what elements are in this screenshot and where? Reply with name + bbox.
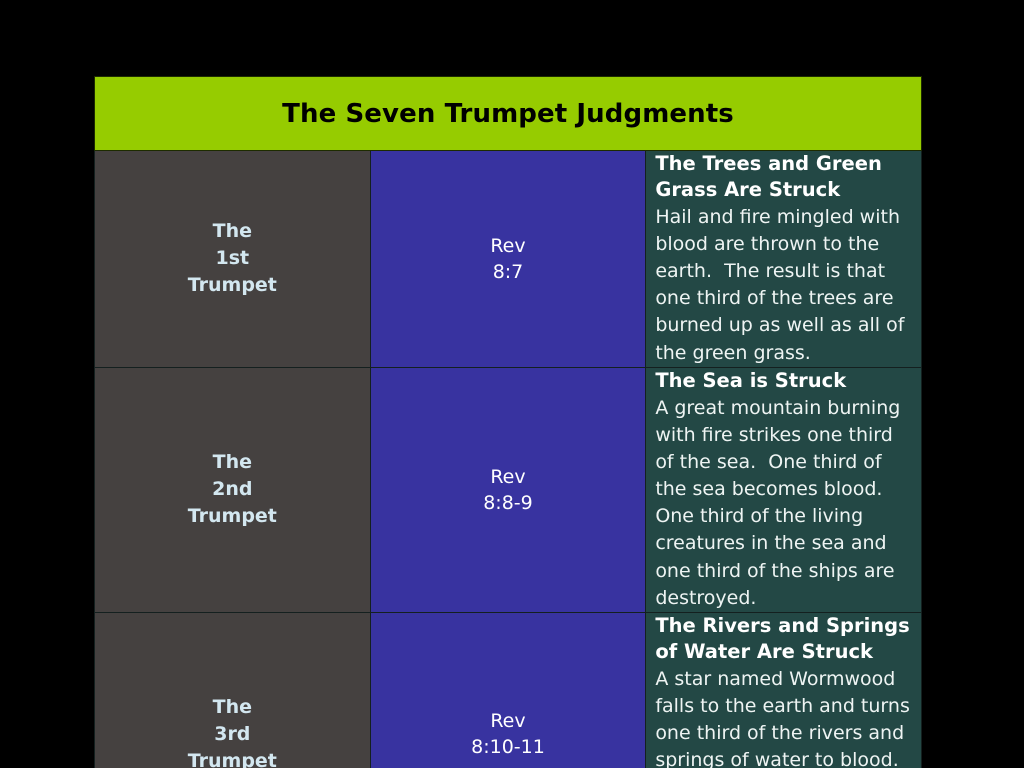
scripture-reference-2: Rev 8:8-9 <box>370 367 646 612</box>
description-heading-2: The Sea is Struck <box>655 368 911 394</box>
description-cell-2: The Sea is Struck A great mountain burni… <box>646 367 922 612</box>
description-body-3: A star named Wormwood falls to the earth… <box>655 666 911 768</box>
page-title: The Seven Trumpet Judgments <box>95 77 922 151</box>
description-body-1: Hail and fire mingled with blood are thr… <box>655 204 911 367</box>
description-cell-3: The Rivers and Springs of Water Are Stru… <box>646 612 922 768</box>
trumpet-label-3: The 3rd Trumpet <box>95 612 371 768</box>
description-cell-1: The Trees and Green Grass Are Struck Hai… <box>646 151 922 368</box>
slide-canvas: The Seven Trumpet Judgments The 1st Trum… <box>0 0 1024 768</box>
table-row: The 3rd Trumpet Rev 8:10-11 The Rivers a… <box>95 612 922 768</box>
table-row: The 1st Trumpet Rev 8:7 The Trees and Gr… <box>95 151 922 368</box>
scripture-reference-1: Rev 8:7 <box>370 151 646 368</box>
seven-trumpet-judgments-table: The Seven Trumpet Judgments The 1st Trum… <box>94 76 922 768</box>
trumpet-label-1: The 1st Trumpet <box>95 151 371 368</box>
table-title-row: The Seven Trumpet Judgments <box>95 77 922 151</box>
description-heading-1: The Trees and Green Grass Are Struck <box>655 151 911 203</box>
description-heading-3: The Rivers and Springs of Water Are Stru… <box>655 613 911 665</box>
scripture-reference-3: Rev 8:10-11 <box>370 612 646 768</box>
table-row: The 2nd Trumpet Rev 8:8-9 The Sea is Str… <box>95 367 922 612</box>
description-body-2: A great mountain burning with fire strik… <box>655 395 911 612</box>
trumpet-label-2: The 2nd Trumpet <box>95 367 371 612</box>
